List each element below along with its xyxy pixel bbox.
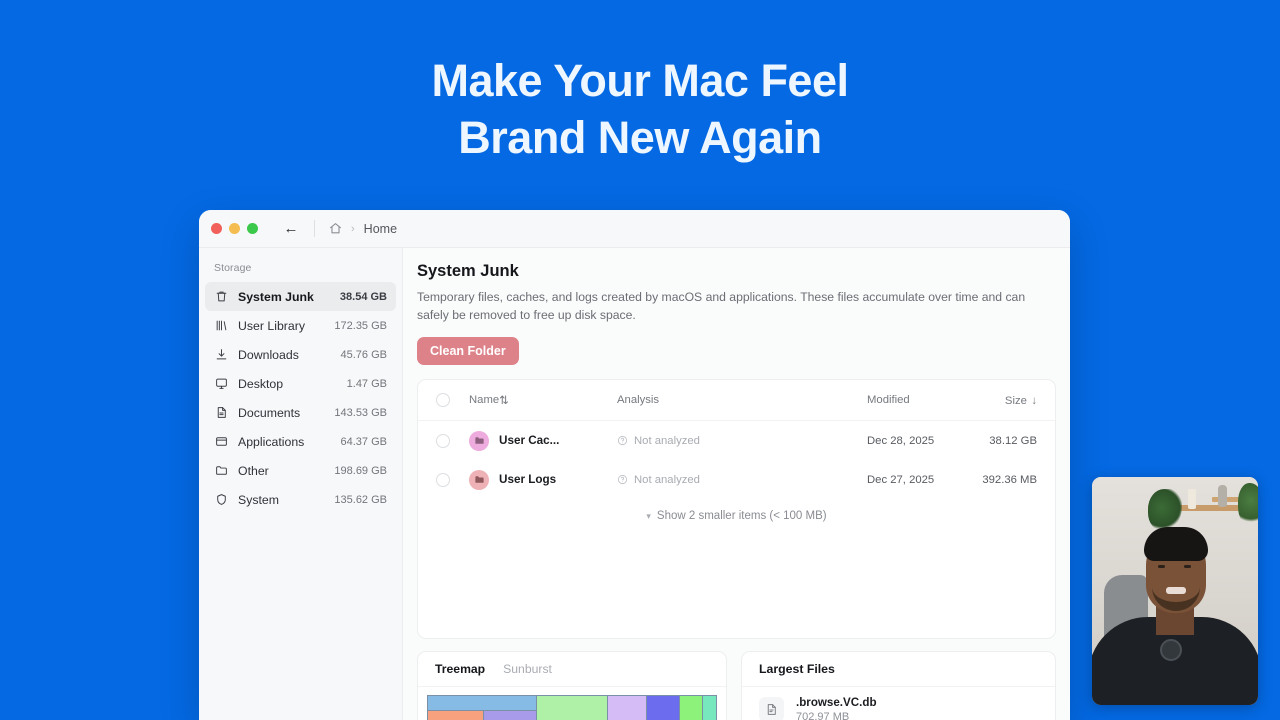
- app-window: ← › Home Storage System Junk 38.54: [199, 210, 1070, 720]
- select-all-checkbox[interactable]: [436, 393, 450, 407]
- sidebar-item-size: 143.53 GB: [334, 407, 387, 419]
- sidebar-item-size: 45.76 GB: [341, 349, 387, 361]
- traffic-lights: [211, 223, 258, 234]
- presenter-video-overlay: [1092, 477, 1258, 705]
- presenter-eye-right: [1184, 565, 1191, 568]
- cell-size: 392.36 MB: [975, 474, 1037, 486]
- library-icon: [214, 318, 229, 333]
- column-header-analysis[interactable]: Analysis: [617, 394, 867, 406]
- sidebar-item-label: Desktop: [238, 377, 347, 391]
- file-name: User Cac...: [499, 434, 559, 447]
- sidebar-section-label: Storage: [199, 258, 402, 282]
- app-window-icon: [214, 434, 229, 449]
- sidebar-item-desktop[interactable]: Desktop 1.47 GB: [205, 369, 396, 398]
- document-icon: [214, 405, 229, 420]
- sidebar-item-applications[interactable]: Applications 64.37 GB: [205, 427, 396, 456]
- plant-decor-right: [1238, 483, 1258, 527]
- cell-name: User Cac...: [469, 431, 617, 451]
- treemap-node[interactable]: [428, 696, 536, 710]
- treemap-chart[interactable]: [427, 695, 717, 720]
- cell-modified: Dec 28, 2025: [867, 435, 975, 447]
- close-button[interactable]: [211, 223, 222, 234]
- list-item[interactable]: .browse.VC.db 702.97 MB: [742, 687, 1055, 720]
- treemap-node[interactable]: [608, 696, 645, 720]
- show-more-label: Show 2 smaller items (< 100 MB): [657, 510, 827, 522]
- breadcrumb-separator: ›: [351, 223, 355, 235]
- visualization-tabs: Treemap Sunburst: [418, 652, 726, 687]
- presenter-hair: [1144, 527, 1208, 561]
- file-icon: [759, 697, 784, 720]
- sidebar-item-label: System: [238, 493, 334, 507]
- folder-icon: [214, 463, 229, 478]
- column-header-modified[interactable]: Modified: [867, 394, 975, 406]
- minimize-button[interactable]: [229, 223, 240, 234]
- sidebar-item-label: Other: [238, 464, 334, 478]
- sidebar-item-system-junk[interactable]: System Junk 38.54 GB: [205, 282, 396, 311]
- shield-icon: [214, 492, 229, 507]
- table-header-row: Name ⇅ Analysis Modified Size ↓: [418, 380, 1055, 421]
- sidebar-item-label: Applications: [238, 435, 341, 449]
- headline-line-2: Brand New Again: [0, 109, 1280, 166]
- vase-decor: [1218, 485, 1227, 507]
- headline-line-1: Make Your Mac Feel: [0, 52, 1280, 109]
- file-name: User Logs: [499, 473, 556, 486]
- sort-desc-icon: ↓: [1031, 395, 1037, 407]
- sidebar-item-size: 1.47 GB: [347, 378, 387, 390]
- tab-treemap[interactable]: Treemap: [435, 662, 485, 676]
- toolbar-divider: [314, 220, 315, 237]
- treemap-node[interactable]: [703, 696, 716, 720]
- treemap-node[interactable]: [647, 696, 680, 720]
- sidebar-item-label: Documents: [238, 406, 334, 420]
- treemap-node[interactable]: [484, 711, 536, 720]
- lapel-microphone: [1160, 639, 1182, 661]
- largest-files-panel: Largest Files .browse.VC.db 702.97 MB: [741, 651, 1056, 720]
- sidebar-item-size: 135.62 GB: [334, 494, 387, 506]
- treemap-group: [428, 696, 536, 720]
- folder-icon: [469, 431, 489, 451]
- chevron-down-icon: ▾: [646, 511, 651, 522]
- sidebar-item-size: 38.54 GB: [340, 291, 387, 303]
- sidebar-item-documents[interactable]: Documents 143.53 GB: [205, 398, 396, 427]
- cell-analysis: Not analyzed: [617, 435, 867, 447]
- window-body: Storage System Junk 38.54 GB User Librar…: [199, 248, 1070, 720]
- clean-folder-button[interactable]: Clean Folder: [417, 337, 519, 365]
- largest-files-header: Largest Files: [742, 652, 1055, 687]
- largest-files-title: Largest Files: [759, 662, 835, 676]
- sidebar-item-other[interactable]: Other 198.69 GB: [205, 456, 396, 485]
- sidebar-item-size: 172.35 GB: [334, 320, 387, 332]
- back-button[interactable]: ←: [282, 221, 300, 236]
- file-meta: .browse.VC.db 702.97 MB: [796, 696, 877, 720]
- table-row[interactable]: User Logs Not analyzed Dec 27, 2025 392.…: [418, 460, 1055, 499]
- presenter-mouth: [1166, 587, 1186, 594]
- cell-analysis: Not analyzed: [617, 474, 867, 486]
- tab-sunburst[interactable]: Sunburst: [503, 662, 552, 676]
- content-title: System Junk: [417, 262, 1056, 281]
- cell-size: 38.12 GB: [975, 435, 1037, 447]
- file-table-card: Name ⇅ Analysis Modified Size ↓: [417, 379, 1056, 639]
- treemap-panel: Treemap Sunburst: [417, 651, 727, 720]
- analysis-status: Not analyzed: [634, 474, 700, 486]
- treemap-node[interactable]: [537, 696, 607, 720]
- column-header-size[interactable]: Size ↓: [975, 391, 1037, 409]
- cell-modified: Dec 27, 2025: [867, 474, 975, 486]
- cell-name: User Logs: [469, 470, 617, 490]
- candle-decor: [1188, 489, 1196, 509]
- zoom-button[interactable]: [247, 223, 258, 234]
- question-circle-icon: [617, 474, 628, 485]
- home-icon[interactable]: [329, 222, 342, 235]
- question-circle-icon: [617, 435, 628, 446]
- column-header-name[interactable]: Name ⇅: [469, 394, 617, 407]
- bottom-panels: Treemap Sunburst: [417, 651, 1056, 720]
- display-icon: [214, 376, 229, 391]
- main-content: System Junk Temporary files, caches, and…: [403, 248, 1070, 720]
- folder-icon: [469, 470, 489, 490]
- content-description: Temporary files, caches, and logs create…: [417, 289, 1049, 324]
- slide-canvas: Make Your Mac Feel Brand New Again ← › H…: [0, 0, 1280, 720]
- sidebar-item-size: 198.69 GB: [334, 465, 387, 477]
- sidebar-item-label: System Junk: [238, 290, 340, 304]
- window-titlebar: ← › Home: [199, 210, 1070, 248]
- breadcrumb: › Home: [329, 222, 397, 236]
- sidebar-item-size: 64.37 GB: [341, 436, 387, 448]
- sidebar-item-label: User Library: [238, 319, 334, 333]
- sidebar: Storage System Junk 38.54 GB User Librar…: [199, 248, 403, 720]
- treemap-node[interactable]: [428, 711, 483, 720]
- row-checkbox[interactable]: [436, 473, 450, 487]
- file-size: 702.97 MB: [796, 711, 877, 720]
- page-title: Make Your Mac Feel Brand New Again: [0, 52, 1280, 166]
- show-more-items-button[interactable]: ▾ Show 2 smaller items (< 100 MB): [418, 499, 1055, 533]
- row-checkbox[interactable]: [436, 434, 450, 448]
- treemap-node[interactable]: [680, 696, 701, 720]
- breadcrumb-current[interactable]: Home: [364, 222, 397, 236]
- table-row[interactable]: User Cac... Not analyzed Dec 28, 2025 38…: [418, 421, 1055, 460]
- sidebar-item-system[interactable]: System 135.62 GB: [205, 485, 396, 514]
- analysis-status: Not analyzed: [634, 435, 700, 447]
- file-name: .browse.VC.db: [796, 696, 877, 709]
- download-icon: [214, 347, 229, 362]
- trash-icon: [214, 289, 229, 304]
- sidebar-item-user-library[interactable]: User Library 172.35 GB: [205, 311, 396, 340]
- sort-toggle-icon: ⇅: [499, 394, 508, 407]
- sidebar-item-downloads[interactable]: Downloads 45.76 GB: [205, 340, 396, 369]
- sidebar-item-label: Downloads: [238, 348, 341, 362]
- presenter-eye-left: [1158, 565, 1165, 568]
